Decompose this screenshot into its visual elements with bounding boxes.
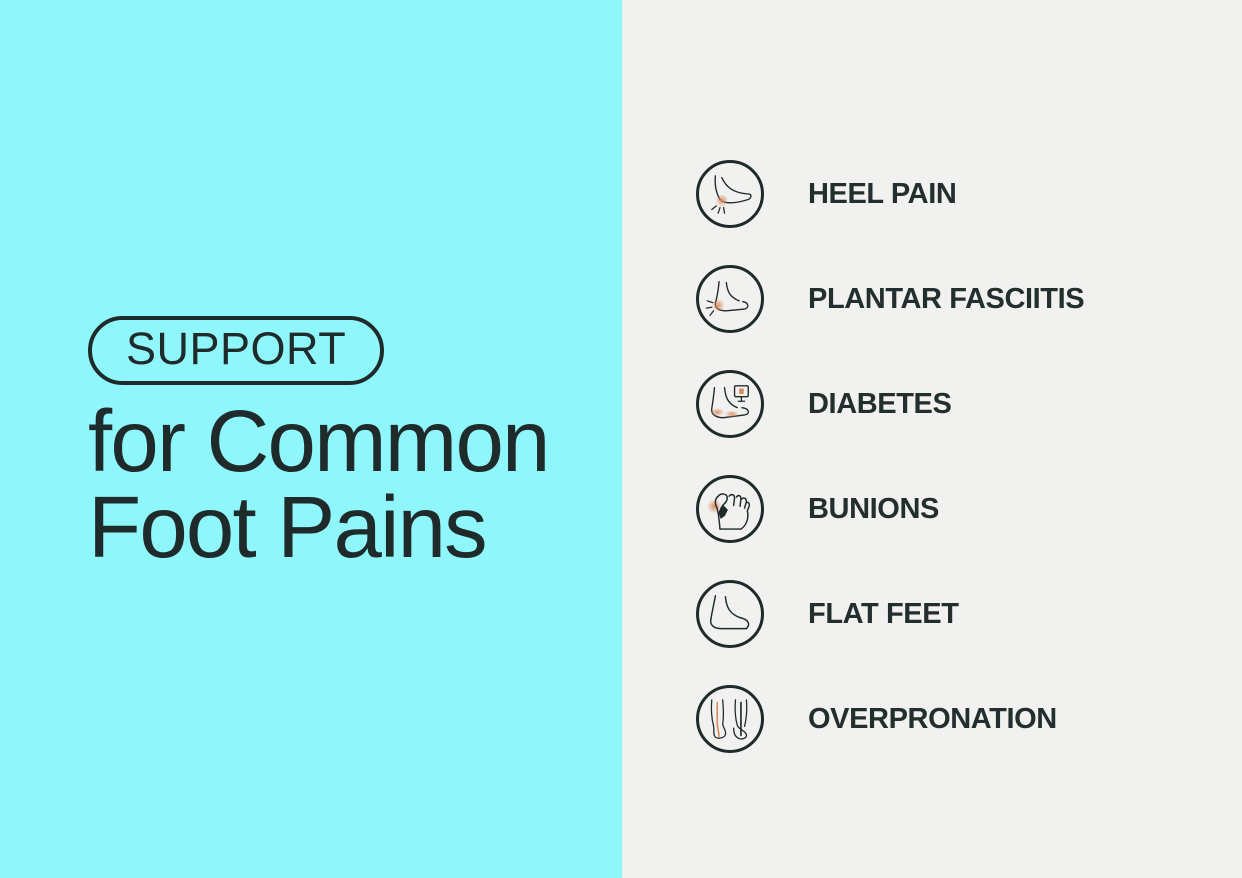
plantar-fasciitis-icon [696, 265, 764, 333]
list-item-label: PLANTAR FASCIITIS [808, 283, 1084, 316]
list-item-label: HEEL PAIN [808, 178, 956, 211]
title-block: SUPPORT for Common Foot Pains [88, 316, 588, 572]
list-item-label: OVERPRONATION [808, 703, 1057, 736]
list-item-label: BUNIONS [808, 493, 939, 526]
list-item[interactable]: BUNIONS [696, 475, 1084, 543]
list-item[interactable]: FLAT FEET [696, 580, 1084, 648]
foot-pain-list: HEEL PAIN [696, 160, 1084, 753]
list-item[interactable]: OVERPRONATION [696, 685, 1084, 753]
page-title: for Common Foot Pains [88, 399, 588, 571]
list-item[interactable]: DIABETES [696, 370, 1084, 438]
left-title-panel: SUPPORT for Common Foot Pains [0, 0, 622, 878]
list-item-label: DIABETES [808, 388, 951, 421]
bunion-icon [696, 475, 764, 543]
list-item[interactable]: HEEL PAIN [696, 160, 1084, 228]
right-list-panel: HEEL PAIN [622, 0, 1242, 878]
glucose-meter-badge [735, 386, 749, 402]
flat-feet-icon [696, 580, 764, 648]
heel-pain-icon [696, 160, 764, 228]
overpronation-icon [696, 685, 764, 753]
list-item-label: FLAT FEET [808, 598, 959, 631]
list-item[interactable]: PLANTAR FASCIITIS [696, 265, 1084, 333]
page-title-line-1: for Common [88, 399, 588, 485]
diabetes-foot-icon [696, 370, 764, 438]
support-badge-label: SUPPORT [126, 325, 346, 372]
poster-canvas: SUPPORT for Common Foot Pains [0, 0, 1242, 878]
page-title-line-2: Foot Pains [88, 485, 588, 571]
support-badge: SUPPORT [88, 316, 384, 385]
